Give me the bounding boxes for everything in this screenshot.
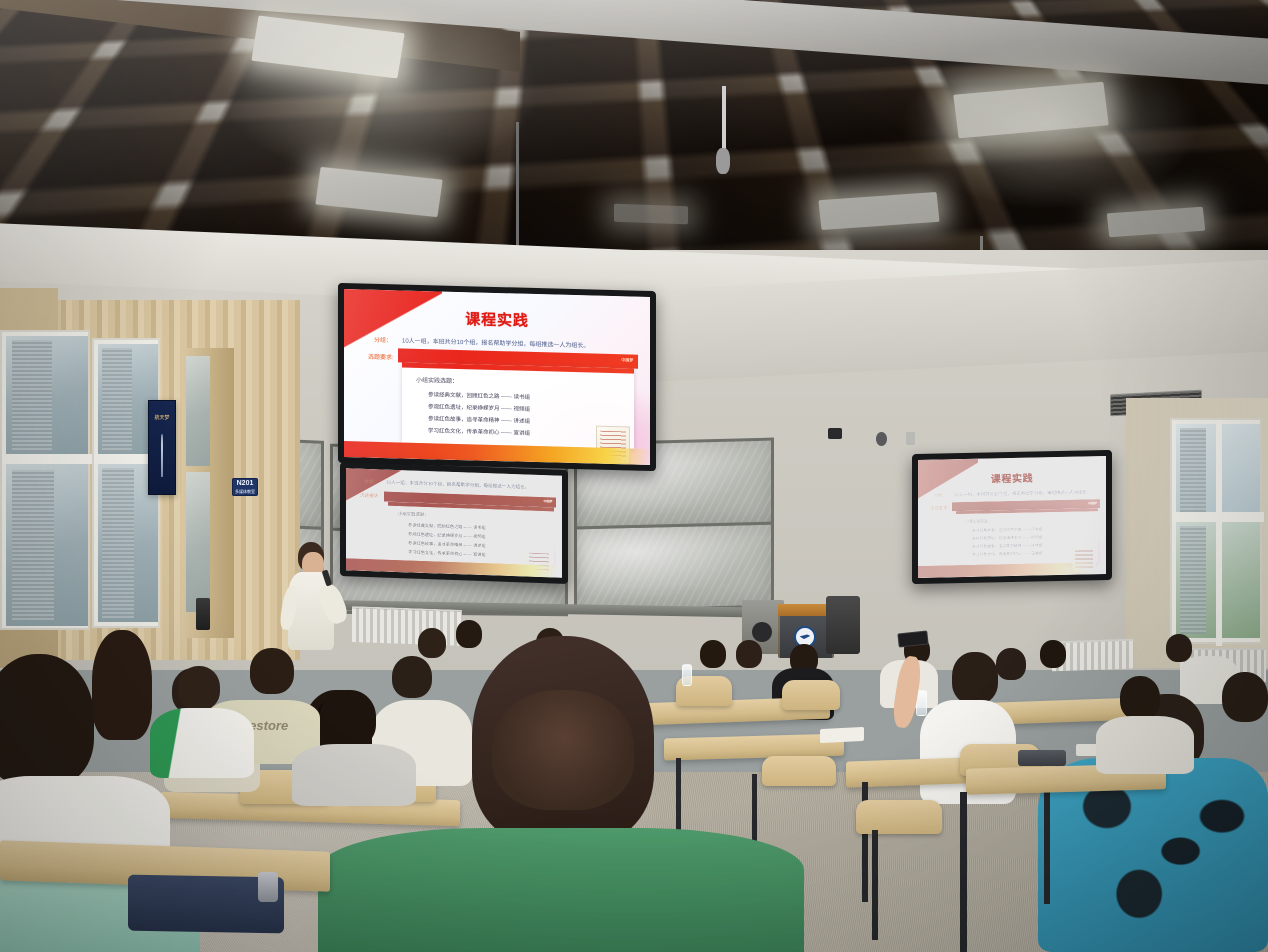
- card-line: 参读经典文献，回顾红色之路 —— 读书组: [972, 527, 1042, 533]
- slide-seal-text: 中国梦: [621, 357, 633, 363]
- room-sign-subtitle: 多媒体教室: [233, 489, 257, 495]
- window-blind: [1180, 428, 1206, 512]
- right-window: [1170, 418, 1262, 644]
- card-line: 学习红色文化，传承革命初心 —— 宣讲组: [408, 549, 486, 558]
- window-blind: [102, 348, 132, 452]
- pencil-case: [1018, 750, 1066, 766]
- student-long-hair: [92, 630, 152, 740]
- student-hair: [492, 690, 634, 810]
- bag-zipper-pull: [258, 872, 278, 902]
- right-display-screen: 课程实践 分组： 10人一组，本班共分10个组，报名帮助学分组，每组推选一人为组…: [918, 456, 1106, 578]
- slide-seal-text: 中国梦: [544, 499, 553, 503]
- secondary-display[interactable]: 分组： 10人一组，本班共分10个组，报名帮助学分组，每组推选一人为组长。 选题…: [340, 462, 568, 584]
- main-display[interactable]: 课程实践 分组： 10人一组，本班共分10个组，报名帮助学分组，每组推选一人为组…: [338, 283, 656, 471]
- chair-back: [856, 800, 942, 834]
- student-head: [250, 648, 294, 694]
- presentation-slide: 课程实践 分组： 10人一组，本班共分10个组，报名帮助学分组，每组推选一人为组…: [344, 289, 650, 465]
- left-window-1: [0, 330, 90, 630]
- card-heading: 小组实践选题：: [416, 375, 458, 385]
- chair-back: [782, 680, 840, 710]
- slide-footer-band: [918, 562, 1106, 578]
- student-head: [392, 656, 432, 698]
- secondary-display-screen: 分组： 10人一组，本班共分10个组，报名帮助学分组，每组推选一人为组长。 选题…: [346, 468, 562, 578]
- room-number-sign: N201 多媒体教室: [232, 478, 258, 496]
- student-green-shirt: [318, 828, 804, 952]
- window-mullion: [2, 454, 92, 464]
- slide-group-label: 分组：: [934, 492, 947, 498]
- whiteboard-panel: [574, 522, 774, 613]
- student-head: [1120, 676, 1160, 720]
- student-shirt: [150, 708, 254, 778]
- wall-mount: [906, 432, 915, 445]
- desk-leg: [960, 792, 967, 952]
- student-head: [1040, 640, 1066, 668]
- slide-requirement-label: 选题要求:: [368, 352, 394, 362]
- wall-sensor-icon: [876, 432, 887, 446]
- card-line: 参读经典文献，回顾红色之路 —— 读书组: [428, 390, 530, 401]
- card-line: 参读红色故事，追寻革命精神 —— 讲述组: [408, 540, 486, 549]
- slide-seal-text: 中国梦: [1088, 501, 1097, 505]
- slide-inner-card: 小组实践选题： 参读经典文献，回顾红色之路 —— 读书组 参观红色遗址，纪录峥嵘…: [402, 363, 634, 449]
- slide-group-label: 分组：: [374, 335, 392, 344]
- presentation-slide: 分组： 10人一组，本班共分10个组，报名帮助学分组，每组推选一人为组长。 选题…: [346, 468, 562, 578]
- wall-camera-icon: [828, 428, 842, 439]
- projector-lens-icon: [752, 622, 772, 642]
- door-glass: [186, 472, 210, 612]
- poster-title: 航天梦: [149, 414, 175, 421]
- main-display-screen: 课程实践 分组： 10人一组，本班共分10个组，报名帮助学分组，每组推选一人为组…: [344, 289, 650, 465]
- card-line: 参读红色故事，追寻革命精神 —— 讲述组: [972, 543, 1042, 549]
- card-heading: 小组实践选题：: [964, 518, 992, 525]
- presentation-slide: 课程实践 分组： 10人一组，本班共分10个组，报名帮助学分组，每组推选一人为组…: [918, 456, 1106, 578]
- notebook: [820, 727, 864, 743]
- hanging-microphone-icon: [716, 148, 730, 174]
- trash-bin: [196, 598, 210, 630]
- student-head: [1222, 672, 1268, 722]
- student-head: [178, 666, 220, 710]
- slide-inner-card: 小组实践选题： 参读经典文献，回顾红色之路 —— 读书组 参观红色遗址，纪录峥嵘…: [956, 508, 1098, 565]
- student-head: [996, 648, 1026, 680]
- window-blind: [102, 468, 134, 618]
- rocket-icon: [161, 434, 163, 477]
- water-bottle: [682, 664, 692, 686]
- room-number: N201: [233, 480, 257, 487]
- student-head: [736, 640, 762, 668]
- card-line: 参观红色遗址，纪录峥嵘岁月 —— 视频组: [408, 531, 486, 540]
- slide-inner-card: 小组实践选题： 参读经典文献，回顾红色之路 —— 读书组 参观红色遗址，纪录峥嵘…: [388, 502, 554, 566]
- slide-title: 课程实践: [918, 468, 1106, 487]
- student-shirt: [1096, 716, 1194, 774]
- student-head: [700, 640, 726, 668]
- right-display[interactable]: 课程实践 分组： 10人一组，本班共分10个组，报名帮助学分组，每组推选一人为组…: [912, 450, 1112, 584]
- desk-leg: [1044, 786, 1050, 904]
- student-shirt: [292, 744, 416, 806]
- lecture-hall-photo: 航天梦 N201 多媒体教室 课程实践 分组： 10人一组，本班共分10个组，报…: [0, 0, 1268, 952]
- student-head: [320, 690, 376, 748]
- slide-requirement-label: 选题要求:: [930, 505, 949, 511]
- card-line: 学习红色文化，传承革命初心 —— 宣讲组: [972, 551, 1042, 557]
- window-mullion: [1216, 420, 1222, 646]
- card-line: 参观红色遗址，纪录峥嵘岁月 —— 视频组: [428, 402, 530, 413]
- av-cabinet: [826, 596, 860, 654]
- chair-back: [762, 756, 836, 786]
- microphone-pole: [722, 86, 726, 152]
- window-blind: [12, 470, 54, 620]
- student-head: [456, 620, 482, 648]
- card-line: 参观红色遗址，纪录峥嵘岁月 —— 视频组: [972, 535, 1042, 541]
- student-head: [0, 654, 94, 786]
- chair-leg: [872, 830, 878, 940]
- slide-requirement-label: 选题要求:: [360, 493, 380, 500]
- card-line: 学习红色文化，传承革命初心 —— 宣讲组: [428, 426, 530, 437]
- space-poster: 航天梦: [148, 400, 176, 495]
- student-head: [1166, 634, 1192, 662]
- card-line: 参读红色故事，追寻革命精神 —— 讲述组: [428, 414, 530, 425]
- window-blind: [1180, 526, 1206, 634]
- slide-group-label: 分组：: [364, 479, 378, 485]
- student-head: [418, 628, 446, 658]
- window-blind: [12, 340, 52, 452]
- card-line: 参读经典文献，回顾红色之路 —— 读书组: [408, 522, 486, 531]
- door-glass: [186, 356, 210, 466]
- student-head: [952, 652, 998, 704]
- card-heading: 小组实践选题：: [398, 511, 429, 518]
